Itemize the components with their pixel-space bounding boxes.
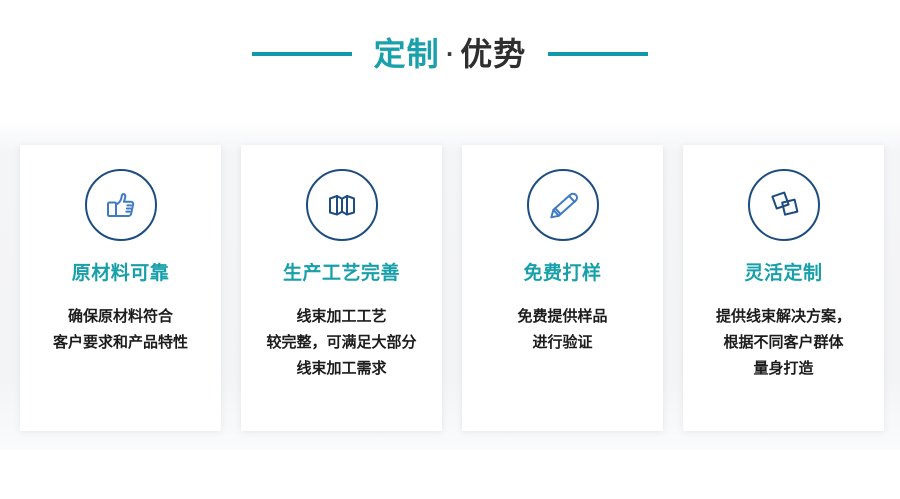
title-accent-text: 定制 bbox=[374, 38, 440, 70]
feature-card-description: 免费提供样品 进行验证 bbox=[511, 304, 613, 356]
page-title: 定制 · 优势 bbox=[374, 38, 527, 70]
feature-card-list: 原材料可靠 确保原材料符合 客户要求和产品特性 生产工艺完善 线束加工工艺 较完… bbox=[20, 145, 884, 431]
title-rule-right bbox=[548, 52, 648, 56]
feature-card-title: 原材料可靠 bbox=[72, 264, 170, 283]
icon-circle-wrapper feature-card[interactable]: 免费打样 免费提供样品 进行验证 bbox=[462, 145, 663, 431]
thumbs-up-icon bbox=[101, 185, 141, 225]
feature-card-title: 生产工艺完善 bbox=[283, 264, 400, 283]
folded-map-icon bbox=[322, 185, 362, 225]
feature-card-description: 线束加工工艺 较完整，可满足大部分 线束加工需求 bbox=[260, 304, 422, 381]
feature-card[interactable]: 生产工艺完善 线束加工工艺 较完整，可满足大部分 线束加工需求 bbox=[241, 145, 442, 431]
section-title: 定制 · 优势 bbox=[0, 28, 900, 80]
stacked-cards-icon bbox=[764, 185, 804, 225]
icon-circle bbox=[85, 169, 157, 241]
custom-advantage-section: 定制 · 优势 原材料可靠 确保原材料符合 客户要求 bbox=[0, 0, 900, 499]
pencil-icon bbox=[543, 185, 583, 225]
feature-card[interactable]: 灵活定制 提供线束解决方案， 根据不同客户群体 量身打造 bbox=[683, 145, 884, 431]
icon-circle bbox=[306, 169, 378, 241]
feature-card-description: 确保原材料符合 客户要求和产品特性 bbox=[47, 304, 194, 356]
feature-card-description: 提供线束解决方案， 根据不同客户群体 量身打造 bbox=[710, 304, 857, 381]
icon-circle bbox=[527, 169, 599, 241]
icon-circle bbox=[748, 169, 820, 241]
feature-card[interactable]: 原材料可靠 确保原材料符合 客户要求和产品特性 bbox=[20, 145, 221, 431]
feature-card-title: 免费打样 bbox=[523, 264, 601, 283]
title-main-text: 优势 bbox=[460, 38, 526, 70]
feature-card-title: 灵活定制 bbox=[744, 264, 822, 283]
title-rule-left bbox=[252, 52, 352, 56]
title-separator-dot: · bbox=[442, 44, 459, 64]
